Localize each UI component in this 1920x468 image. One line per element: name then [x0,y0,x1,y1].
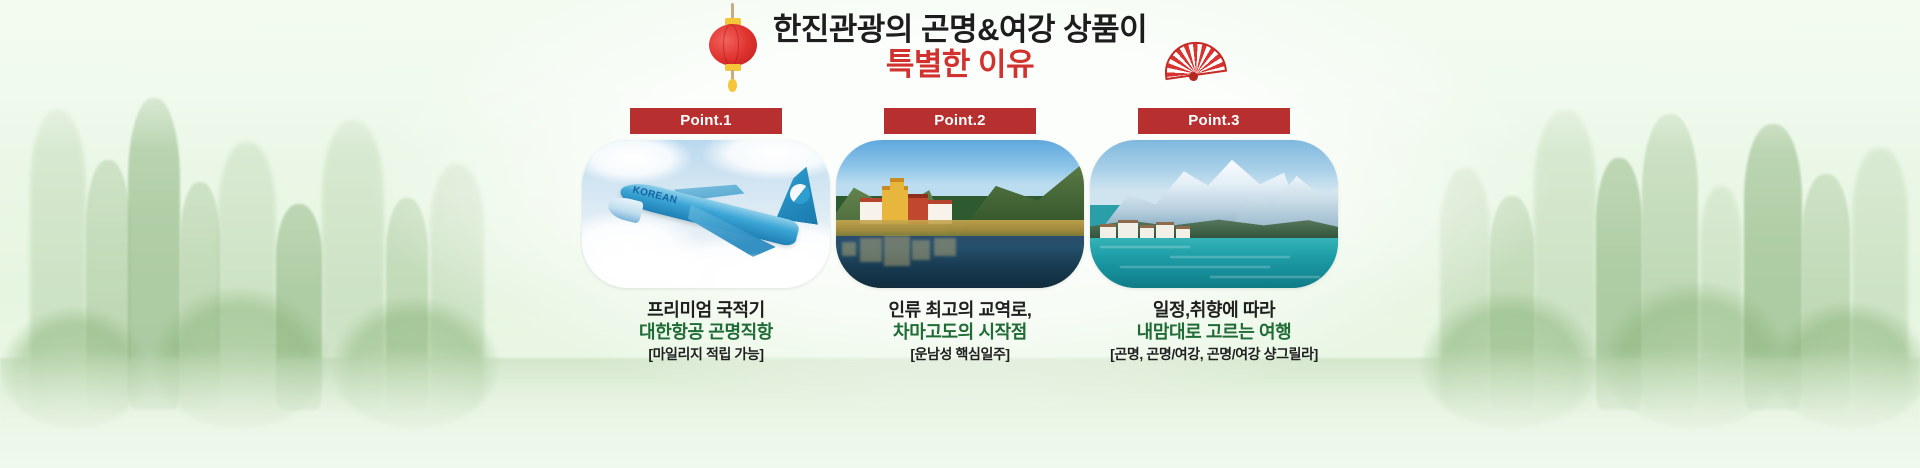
promo-banner: 한진관광의 곤명&여강 상품이 특별한 이유 Point.1 [0,0,1920,468]
red-folding-fan-icon [1163,42,1225,86]
point-card[interactable]: Point.1 KOREAN 프리미엄 국적기 대한항공 곤명직항 [582,108,830,363]
caption-note: [운남성 핵심일주] [888,346,1031,363]
red-lantern-icon [707,3,759,89]
caption-line-2: 차마고도의 시작점 [888,321,1031,343]
snow-mountain-turquoise-lake-photo [1090,140,1338,288]
caption-line-2: 내맘대로 고르는 여행 [1110,321,1318,343]
caption-line-2: 대한항공 곤명직항 [639,321,773,343]
point-badge: Point.1 [630,108,782,134]
title-line-1: 한진관광의 곤명&여강 상품이 [773,12,1147,49]
caption-line-1: 프리미엄 국적기 [639,299,773,321]
caption-note: [곤명, 곤명/여강, 곤명/여강 샹그릴라] [1110,346,1318,363]
card-caption: 일정,취향에 따라 내맘대로 고르는 여행 [곤명, 곤명/여강, 곤명/여강 … [1110,299,1318,363]
point-badge: Point.3 [1138,108,1290,134]
tibetan-monastery-lake-photo [836,140,1084,288]
caption-line-1: 인류 최고의 교역로, [888,299,1031,321]
caption-note: [마일리지 적립 가능] [639,346,773,363]
point-badge: Point.2 [884,108,1036,134]
airplane-in-clouds-photo: KOREAN [582,140,830,288]
banner-title: 한진관광의 곤명&여강 상품이 특별한 이유 [0,12,1920,98]
card-caption: 프리미엄 국적기 대한항공 곤명직항 [마일리지 적립 가능] [639,299,773,363]
card-caption: 인류 최고의 교역로, 차마고도의 시작점 [운남성 핵심일주] [888,299,1031,363]
point-card[interactable]: Point.2 [836,108,1084,363]
caption-line-1: 일정,취향에 따라 [1110,299,1318,321]
point-card[interactable]: Point.3 [1090,108,1338,363]
point-card-list: Point.1 KOREAN 프리미엄 국적기 대한항공 곤명직항 [0,108,1920,363]
title-line-2: 특별한 이유 [773,47,1147,84]
